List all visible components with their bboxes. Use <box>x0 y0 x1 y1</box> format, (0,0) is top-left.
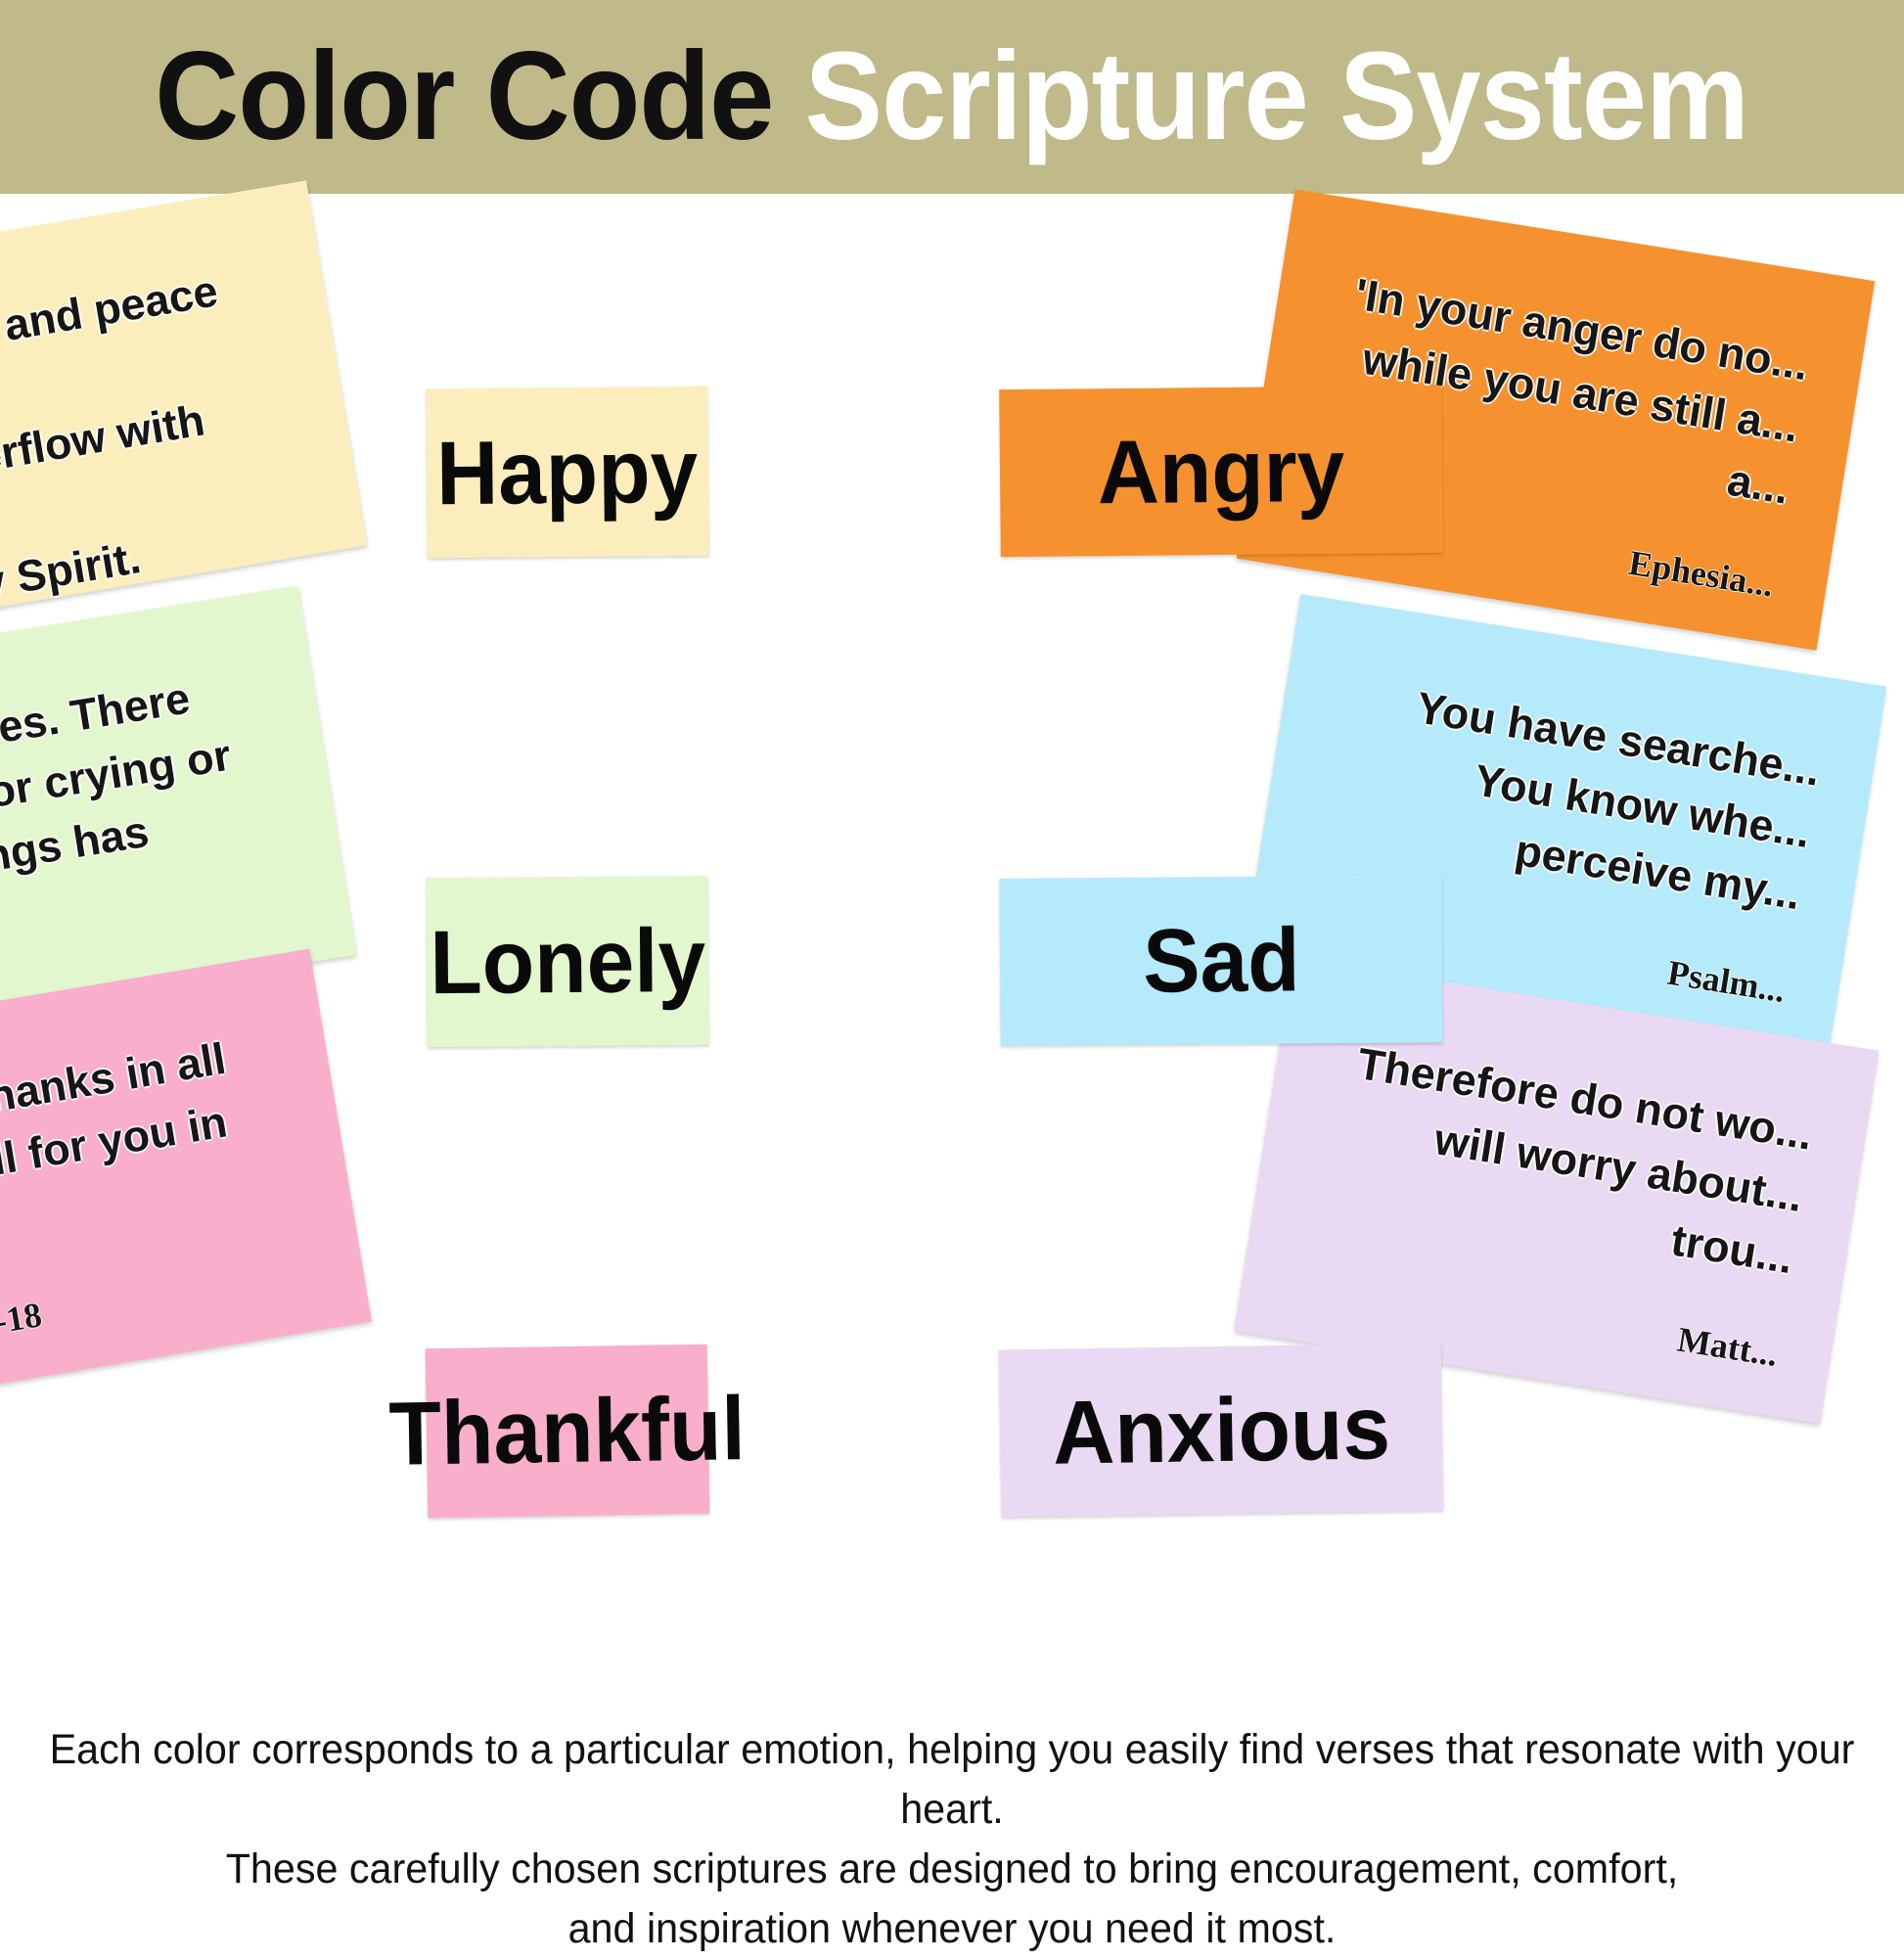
footer-caption-line-1: Each color corresponds to a particular e… <box>38 1720 1866 1840</box>
footer-caption-line-3: and inspiration whenever you need it mos… <box>38 1899 1866 1959</box>
emotion-chip-thankful-label: Thankful <box>388 1384 747 1480</box>
emotion-chip-sad[interactable]: Sad <box>999 875 1442 1046</box>
emotion-chip-lonely[interactable]: Lonely <box>426 876 708 1047</box>
page-title-part-light: Scripture System <box>805 26 1748 166</box>
verse-card-thankful-reference: ...ns 5:16-18 <box>0 1249 313 1364</box>
emotion-chip-lonely-label: Lonely <box>430 915 705 1007</box>
emotion-chip-thankful[interactable]: Thankful <box>426 1344 710 1519</box>
verse-card-sad-text: You have searche... You know whe... perc… <box>1392 676 1825 926</box>
emotion-chip-angry[interactable]: Angry <box>999 386 1443 557</box>
verse-card-lonely-text: ...heir eyes. There ...rning or crying o… <box>0 656 295 972</box>
verse-card-happy[interactable]: ...all joy and peace as ...y overflow wi… <box>0 180 367 635</box>
verse-card-thankful-text: ... give thanks in all ...d's will for y… <box>0 1020 298 1279</box>
page-title-part-dark: Color Code <box>156 26 774 166</box>
verse-card-sad-reference: Psalm... <box>1665 951 1789 1010</box>
verse-card-thankful[interactable]: ... give thanks in all ...d's will for y… <box>0 949 372 1414</box>
page-title: Color Code Scripture System <box>156 34 1749 159</box>
emotion-chip-happy[interactable]: Happy <box>426 387 709 559</box>
verse-card-anxious-reference: Matt... <box>1675 1318 1781 1375</box>
footer-caption-line-2: These carefully chosen scriptures are de… <box>38 1840 1866 1899</box>
verse-card-anxious-text: Therefore do not wo... will worry about.… <box>1334 1032 1817 1290</box>
verse-card-happy-text: ...all joy and peace as ...y overflow wi… <box>0 251 316 632</box>
footer-caption: Each color corresponds to a particular e… <box>0 1720 1904 1959</box>
emotion-chip-happy-label: Happy <box>436 426 699 519</box>
emotion-chip-angry-label: Angry <box>1097 425 1344 517</box>
emotion-chip-anxious[interactable]: Anxious <box>999 1343 1444 1517</box>
emotion-chip-anxious-label: Anxious <box>1052 1383 1390 1478</box>
header-band: Color Code Scripture System <box>0 0 1904 194</box>
emotion-chip-sad-label: Sad <box>1142 915 1299 1006</box>
verse-card-angry-reference: Ephesia... <box>1626 541 1777 605</box>
